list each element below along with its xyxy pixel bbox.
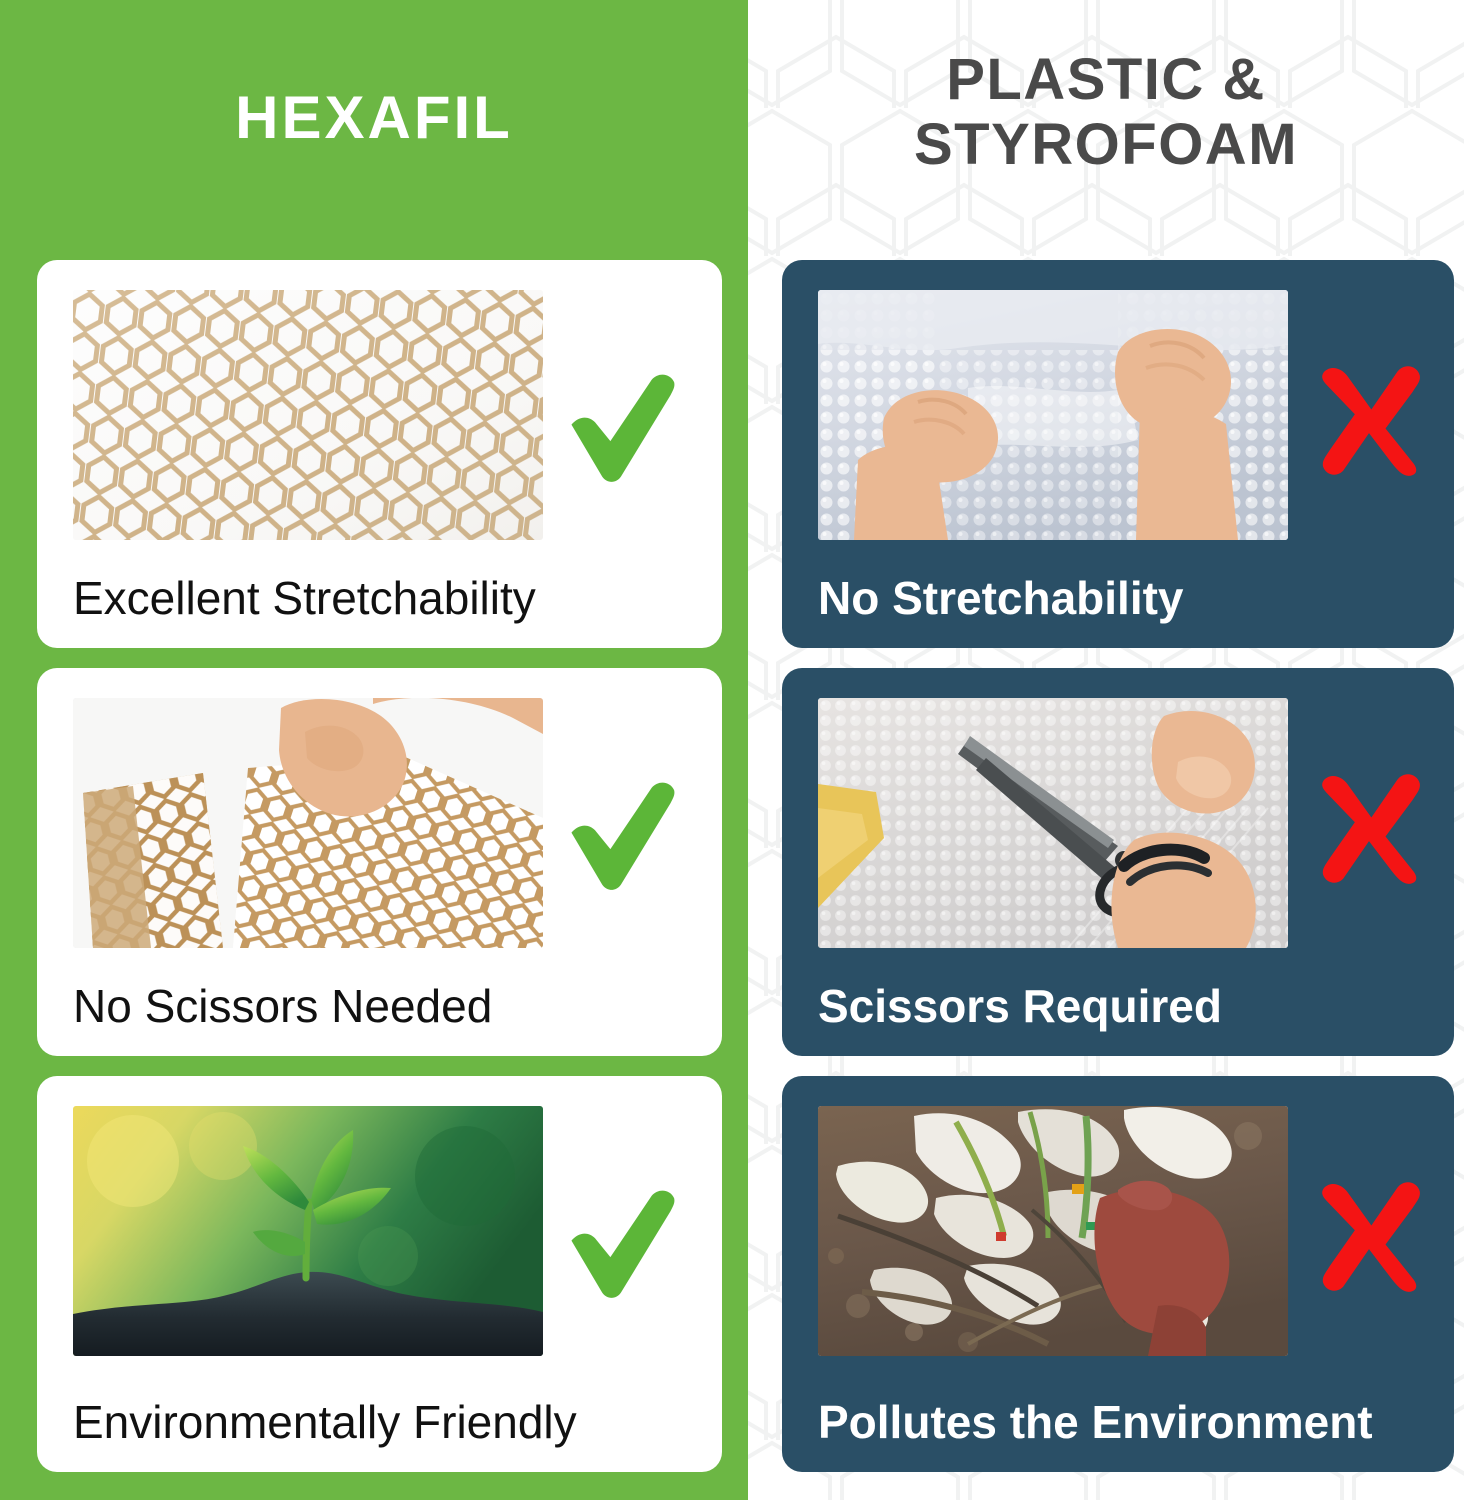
check-icon	[562, 1184, 680, 1302]
comparison-infographic: HEXAFIL	[0, 0, 1464, 1500]
plastic-title-line-1: PLASTIC &	[748, 48, 1464, 113]
green-seedling-in-soil-photo	[73, 1106, 543, 1356]
drawback-card-caption: Pollutes the Environment	[818, 1398, 1373, 1446]
cross-icon	[1310, 768, 1428, 886]
left-panel-header: HEXAFIL	[0, 88, 748, 148]
benefit-card-caption: No Scissors Needed	[73, 982, 492, 1030]
check-icon	[562, 776, 680, 894]
kraft-honeycomb-paper-mesh-photo	[73, 290, 543, 540]
plastic-styrofoam-panel: PLASTIC & STYROFOAM	[748, 0, 1464, 1500]
hands-tearing-honeycomb-paper-photo	[73, 698, 543, 948]
benefit-card-no-scissors: No Scissors Needed	[37, 668, 722, 1056]
benefit-card-caption: Environmentally Friendly	[73, 1398, 577, 1446]
benefit-card-stretchability: Excellent Stretchability	[37, 260, 722, 648]
hands-pulling-bubble-wrap-photo	[818, 290, 1288, 540]
cross-icon	[1310, 360, 1428, 478]
right-panel-header: PLASTIC & STYROFOAM	[748, 48, 1464, 178]
check-icon	[562, 368, 680, 486]
drawback-card-caption: Scissors Required	[818, 982, 1222, 1030]
plastic-title-line-2: STYROFOAM	[748, 113, 1464, 178]
scissors-cutting-bubble-wrap-photo	[818, 698, 1288, 948]
plastic-litter-on-ground-photo	[818, 1106, 1288, 1356]
drawback-card-pollutes-environment: Pollutes the Environment	[782, 1076, 1454, 1472]
hexafil-panel: HEXAFIL	[0, 0, 748, 1500]
drawback-card-scissors-required: Scissors Required	[782, 668, 1454, 1056]
benefit-card-eco-friendly: Environmentally Friendly	[37, 1076, 722, 1472]
benefit-card-caption: Excellent Stretchability	[73, 574, 536, 622]
drawback-card-caption: No Stretchability	[818, 574, 1184, 622]
cross-icon	[1310, 1176, 1428, 1294]
hexafil-brand-title: HEXAFIL	[0, 88, 748, 148]
drawback-card-no-stretchability: No Stretchability	[782, 260, 1454, 648]
